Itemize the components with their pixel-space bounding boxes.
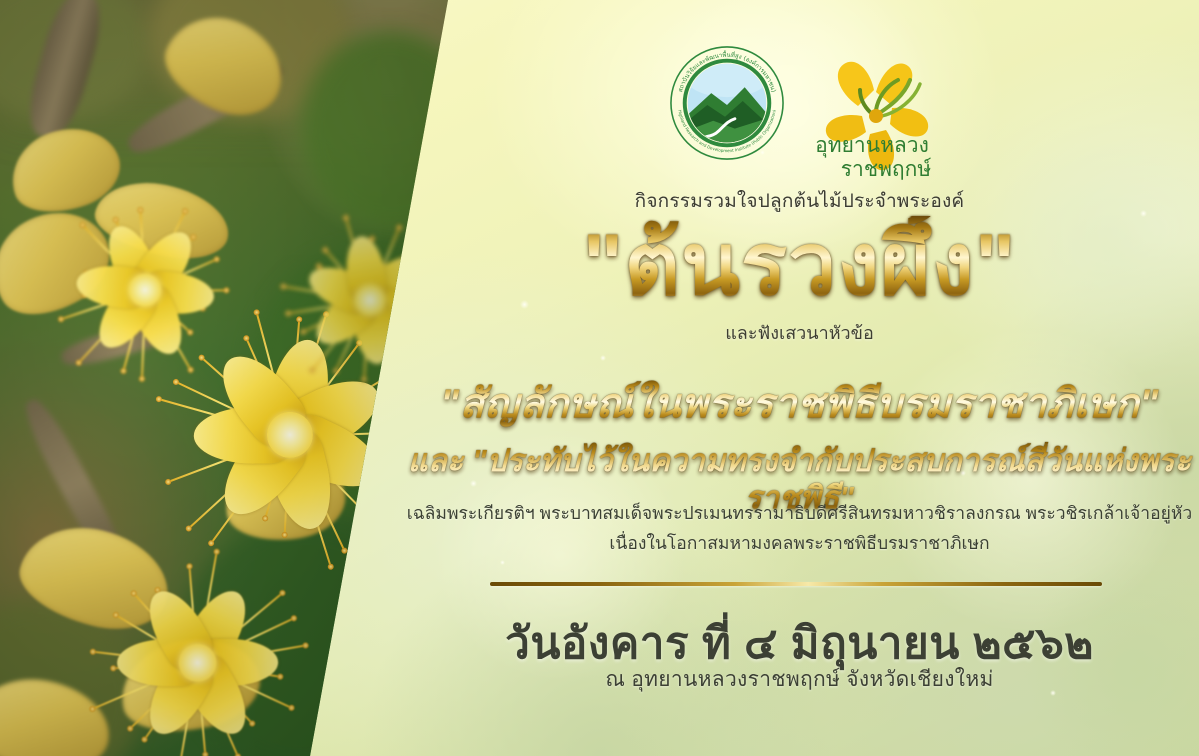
royal-park-logo: อุทยานหลวง ราชพฤกษ์: [798, 36, 958, 186]
park-label-line-2: ราชพฤกษ์: [841, 157, 932, 181]
topic-line-1: "สัญลักษณ์ในพระราชพิธีบรมราชาภิเษก": [400, 380, 1199, 428]
page-title: "ต้นรวงผึ้ง": [400, 216, 1199, 315]
seminar-kicker: และฟังเสวนาหัวข้อ: [400, 318, 1199, 347]
logo-row: สถาบันวิจัยและพัฒนาพื้นที่สูง (องค์การมห…: [660, 36, 960, 176]
event-venue: ณ อุทยานหลวงราชพฤกษ์ จังหวัดเชียงใหม่: [400, 663, 1199, 696]
honor-line-1: เฉลิมพระเกียรติฯ พระบาทสมเด็จพระปรเมนทรร…: [400, 500, 1199, 526]
event-poster: สถาบันวิจัยและพัฒนาพื้นที่สูง (องค์การมห…: [0, 0, 1199, 756]
honor-line-2: เนื่องในโอกาสมหามงคลพระราชพิธีบรมราชาภิเ…: [400, 530, 1199, 556]
hrdi-logo: สถาบันวิจัยและพัฒนาพื้นที่สูง (องค์การมห…: [668, 44, 786, 162]
activity-kicker: กิจกรรมรวมใจปลูกต้นไม้ประจำพระองค์: [400, 186, 1199, 216]
gold-divider: [490, 582, 1102, 586]
park-label-line-1: อุทยานหลวง: [815, 133, 929, 158]
